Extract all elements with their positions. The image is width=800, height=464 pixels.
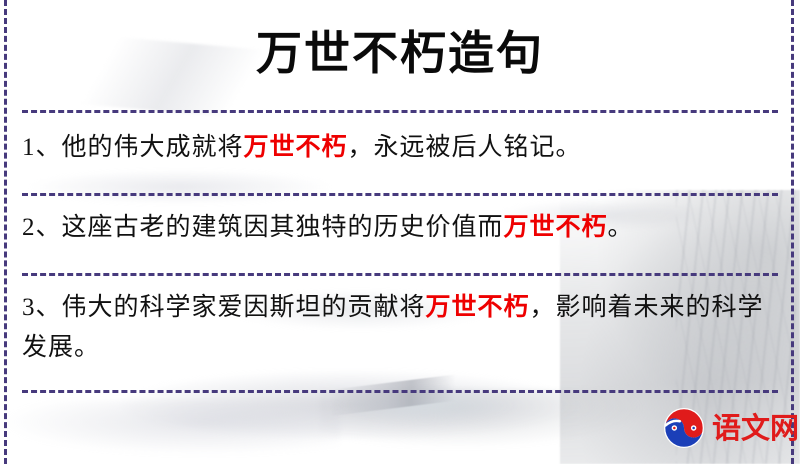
example-sentence-1: 1、他的伟大成就将万世不朽，永远被后人铭记。 — [22, 128, 778, 168]
divider-2 — [22, 193, 778, 196]
sentence-2-number: 2、 — [22, 214, 62, 241]
divider-1 — [22, 110, 778, 113]
sentence-1-text-before: 他的伟大成就将 — [62, 134, 244, 161]
sentence-1-text-after: ，永远被后人铭记。 — [348, 134, 582, 161]
sentence-3-text-before: 伟大的科学家爱因斯坦的贡献将 — [62, 294, 426, 321]
yinyang-fish-circle-icon — [663, 407, 705, 449]
sentence-3-number: 3、 — [22, 294, 62, 321]
slide-canvas: 万世不朽造句 1、他的伟大成就将万世不朽，永远被后人铭记。 2、这座古老的建筑因… — [0, 0, 800, 464]
ink-wash-river — [120, 370, 580, 440]
site-logo[interactable]: 语文网 — [663, 407, 799, 449]
sentence-2-text-before: 这座古老的建筑因其独特的历史价值而 — [62, 214, 504, 241]
mountain-ridge-wash — [320, 390, 650, 450]
sentence-3-idiom: 万世不朽 — [426, 294, 530, 321]
ink-wash-mid-left — [30, 170, 330, 204]
site-logo-text: 语文网 — [712, 413, 799, 443]
example-sentence-3: 3、伟大的科学家爱因斯坦的贡献将万世不朽，影响着未来的科学发展。 — [22, 288, 778, 368]
sentence-2-text-after: 。 — [608, 214, 634, 241]
page-title: 万世不朽造句 — [0, 24, 800, 82]
ink-wash-bottom-left — [0, 400, 340, 455]
sentence-1-number: 1、 — [22, 134, 62, 161]
sentence-2-idiom: 万世不朽 — [504, 214, 608, 241]
divider-3 — [22, 273, 778, 276]
ink-wash-boat — [329, 374, 461, 416]
sentence-1-idiom: 万世不朽 — [244, 134, 348, 161]
example-sentence-2: 2、这座古老的建筑因其独特的历史价值而万世不朽。 — [22, 208, 778, 248]
divider-4 — [22, 390, 778, 393]
